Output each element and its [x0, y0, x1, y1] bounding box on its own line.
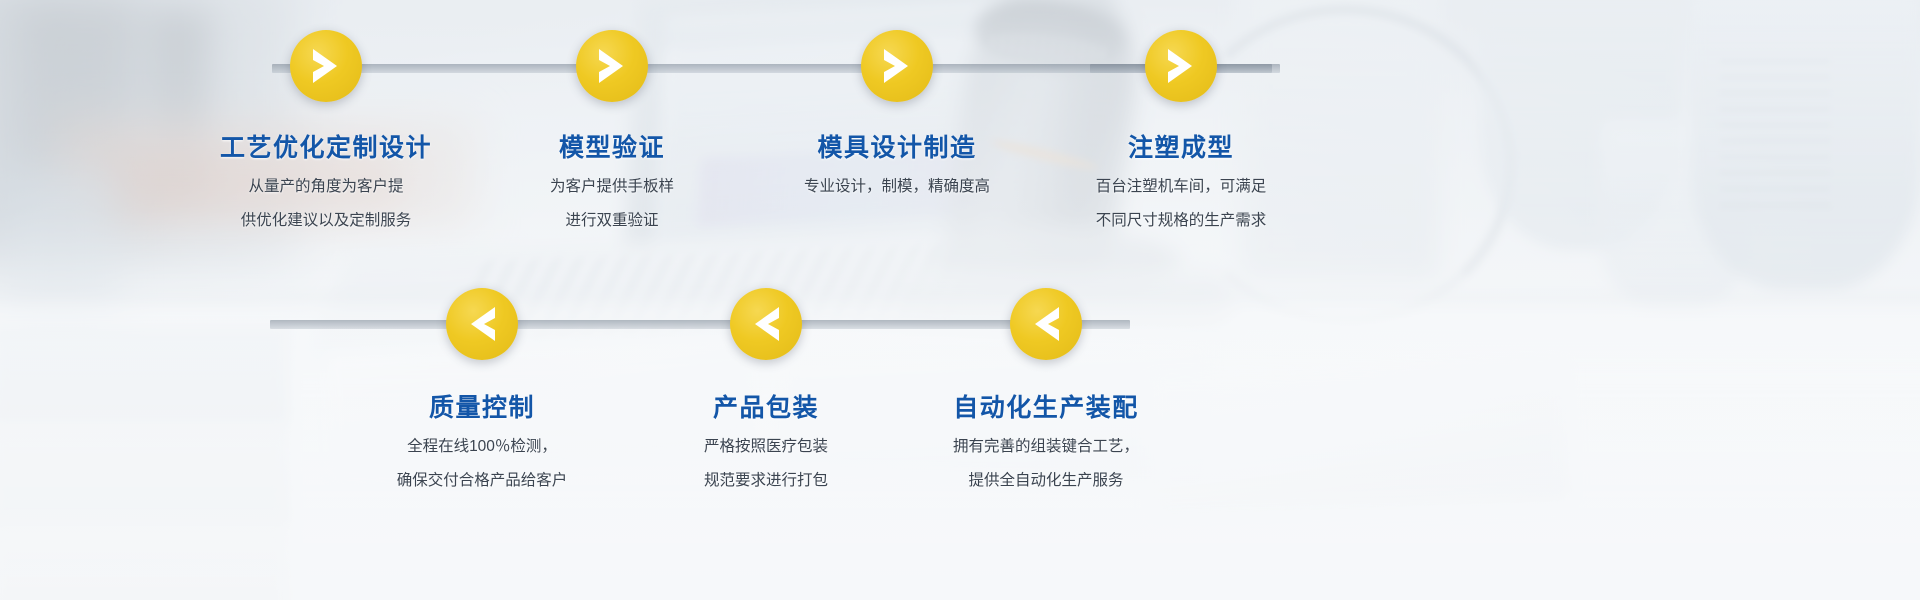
chevron-left-icon[interactable] [1010, 288, 1082, 360]
flow-step-3[interactable]: 模具设计制造 专业设计，制模，精确度高 [769, 30, 1025, 198]
flow-step-2-title: 模型验证 [500, 128, 724, 164]
chevron-left-icon[interactable] [730, 288, 802, 360]
flow-step-2-desc-line-2: 进行双重验证 [500, 210, 724, 232]
flow-step-1[interactable]: 工艺优化定制设计 从量产的角度为客户提 供优化建议以及定制服务 [206, 30, 446, 232]
flow-step-5[interactable]: 质量控制 全程在线100％检测， 确保交付合格产品给客户 [368, 288, 596, 492]
flow-step-7-desc-line-2: 提供全自动化生产服务 [932, 470, 1160, 492]
flow-step-6[interactable]: 产品包装 严格按照医疗包装 规范要求进行打包 [655, 288, 877, 492]
chevron-right-icon[interactable] [1145, 30, 1217, 102]
flow-step-7-desc-line-1: 拥有完善的组装键合工艺， [932, 436, 1160, 458]
flow-step-4-desc-line-2: 不同尺寸规格的生产需求 [1058, 210, 1304, 232]
flow-step-3-desc-line-1: 专业设计，制模，精确度高 [769, 176, 1025, 198]
chevron-right-icon[interactable] [861, 30, 933, 102]
flow-step-4[interactable]: 注塑成型 百台注塑机车间，可满足 不同尺寸规格的生产需求 [1058, 30, 1304, 232]
flow-step-1-title: 工艺优化定制设计 [206, 128, 446, 164]
flow-step-6-desc-line-1: 严格按照医疗包装 [655, 436, 877, 458]
flow-step-5-desc-line-1: 全程在线100％检测， [368, 436, 596, 458]
flow-step-2[interactable]: 模型验证 为客户提供手板样 进行双重验证 [500, 30, 724, 232]
flow-step-2-desc-line-1: 为客户提供手板样 [500, 176, 724, 198]
chevron-right-icon[interactable] [290, 30, 362, 102]
flow-step-5-desc-line-2: 确保交付合格产品给客户 [368, 470, 596, 492]
flow-step-3-title: 模具设计制造 [769, 128, 1025, 164]
flow-step-1-desc-line-1: 从量产的角度为客户提 [206, 176, 446, 198]
flow-step-5-title: 质量控制 [368, 388, 596, 424]
flow-step-4-title: 注塑成型 [1058, 128, 1304, 164]
chevron-right-icon[interactable] [576, 30, 648, 102]
flow-step-7-title: 自动化生产装配 [932, 388, 1160, 424]
chevron-left-icon[interactable] [446, 288, 518, 360]
flow-step-6-desc-line-2: 规范要求进行打包 [655, 470, 877, 492]
flow-step-7[interactable]: 自动化生产装配 拥有完善的组装键合工艺， 提供全自动化生产服务 [932, 288, 1160, 492]
flow-step-1-desc-line-2: 供优化建议以及定制服务 [206, 210, 446, 232]
flow-step-6-title: 产品包装 [655, 388, 877, 424]
flow-step-4-desc-line-1: 百台注塑机车间，可满足 [1058, 176, 1304, 198]
